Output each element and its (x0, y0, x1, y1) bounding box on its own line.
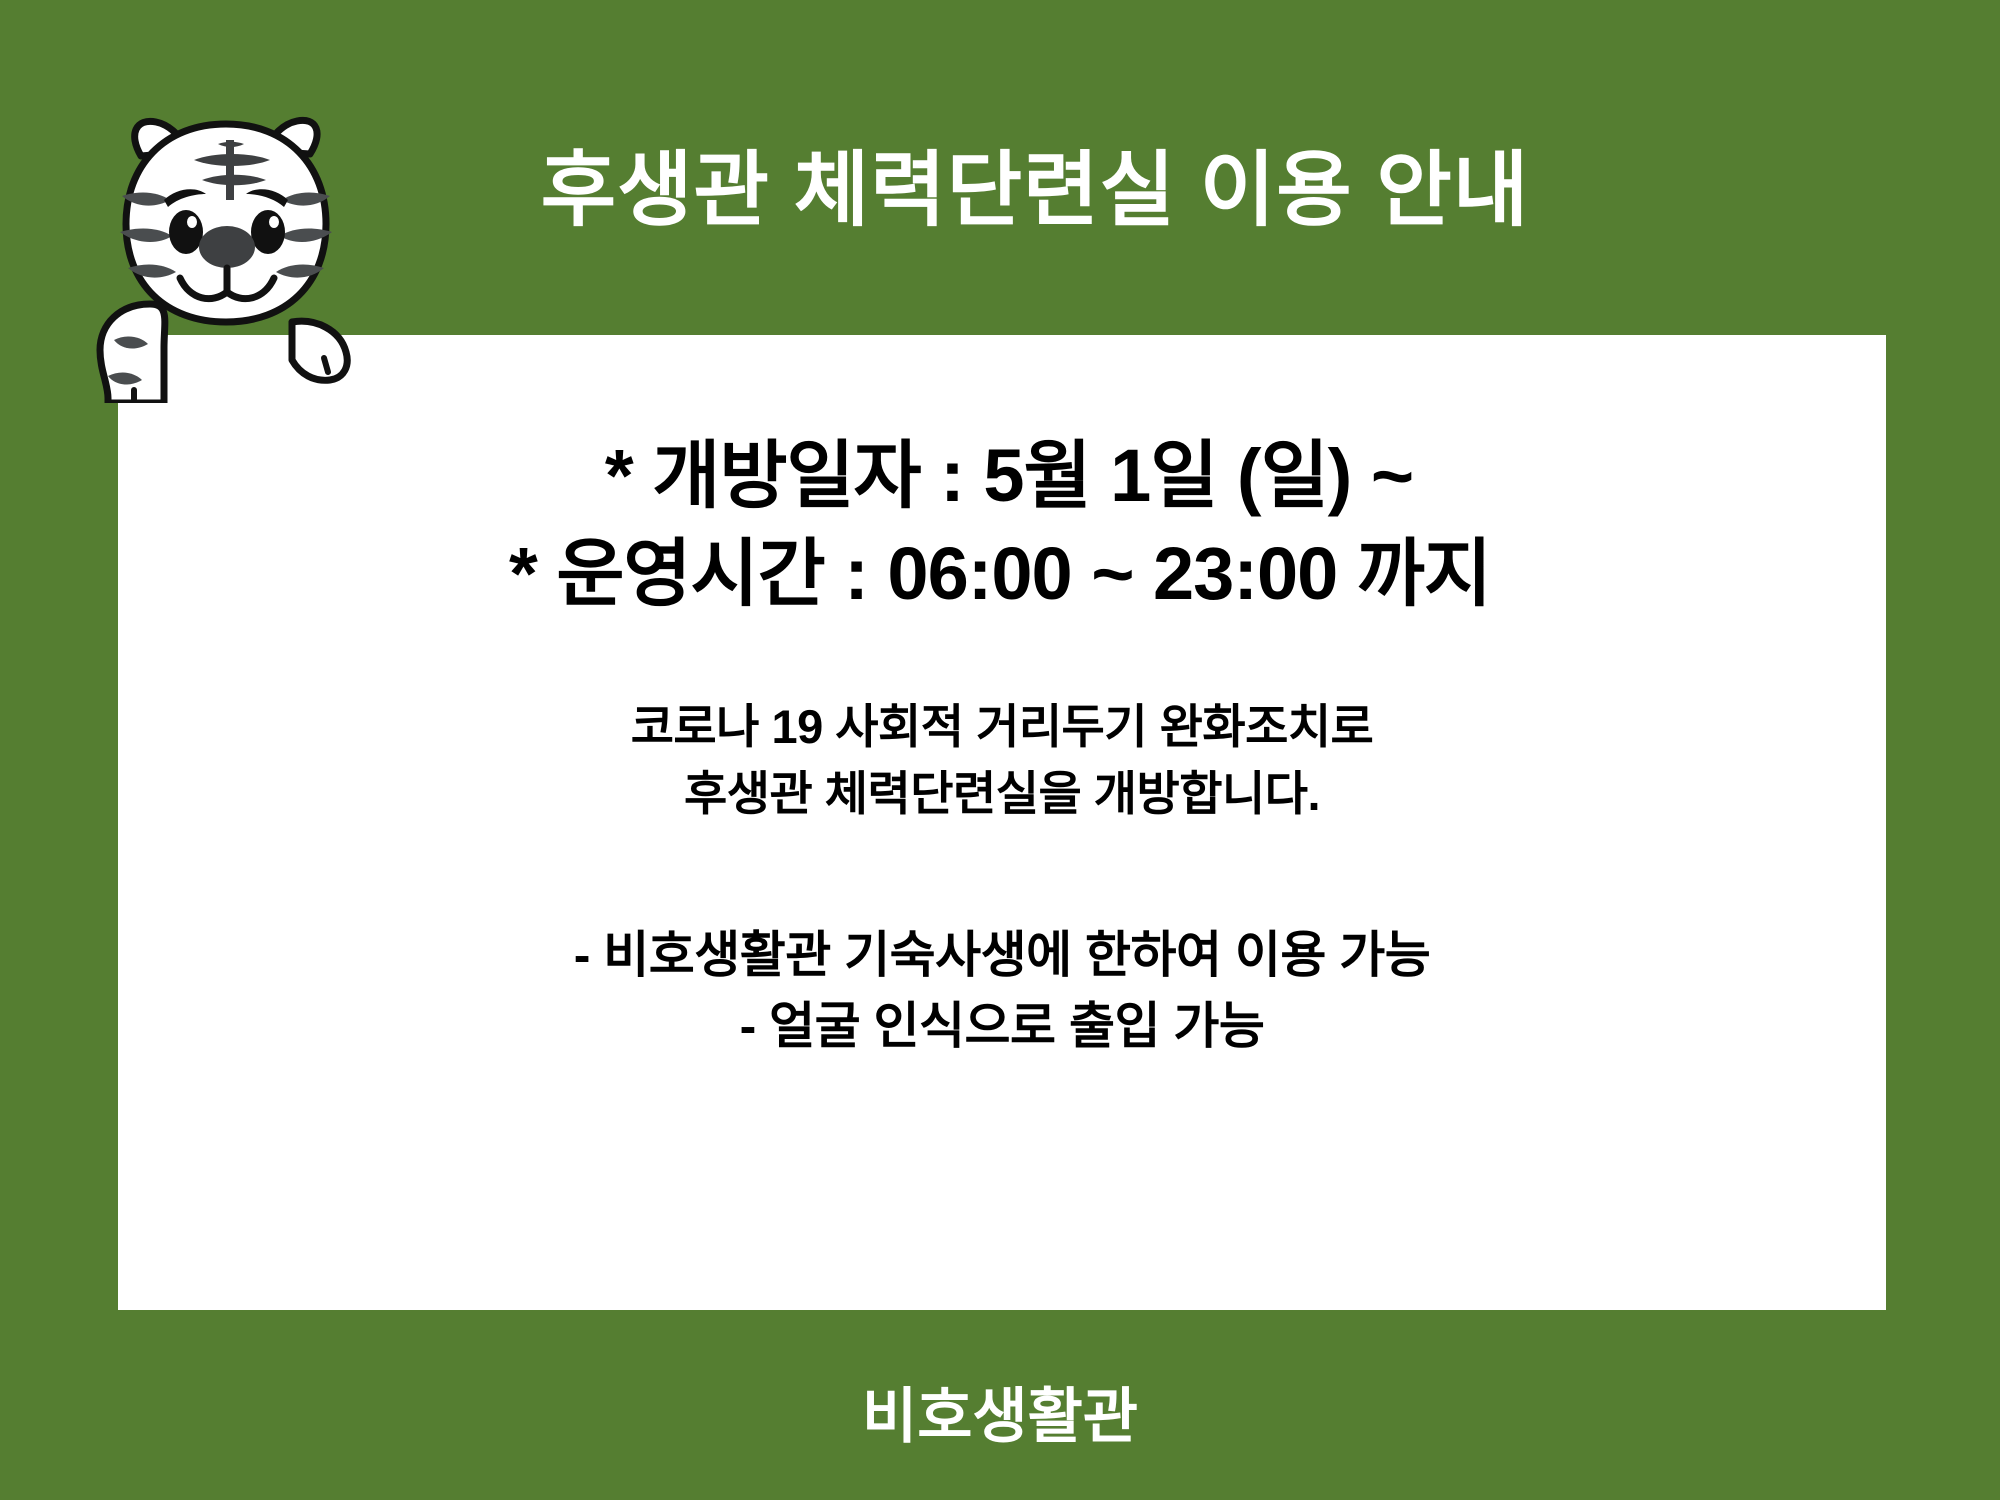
notice-paragraph: 코로나 19 사회적 거리두기 완화조치로 후생관 체력단련실을 개방합니다. (631, 694, 1374, 827)
bullet-item-1: - 비호생활관 기숙사생에 한하여 이용 가능 (574, 920, 1431, 991)
bullet-item-2: - 얼굴 인식으로 출입 가능 (574, 991, 1431, 1062)
headline-open-date: * 개방일자 : 5월 1일 (일) ~ (605, 427, 1413, 525)
paragraph-line-1: 코로나 19 사회적 거리두기 완화조치로 (631, 694, 1374, 761)
notice-card: * 개방일자 : 5월 1일 (일) ~ * 운영시간 : 06:00 ~ 23… (118, 335, 1886, 1310)
footer-organization: 비호생활관 (862, 1383, 1138, 1450)
page-title: 후생관 체력단련실 이용 안내 (541, 148, 1530, 234)
footer: 비호생활관 (0, 1368, 2000, 1455)
notice-bullets: - 비호생활관 기숙사생에 한하여 이용 가능 - 얼굴 인식으로 출입 가능 (574, 920, 1431, 1062)
notice-card-content: * 개방일자 : 5월 1일 (일) ~ * 운영시간 : 06:00 ~ 23… (118, 335, 1886, 1310)
white-tiger-mascot (78, 108, 388, 403)
notice-poster: 후생관 체력단련실 이용 안내 (0, 0, 2000, 1500)
headline-operating-hours: * 운영시간 : 06:00 ~ 23:00 까지 (509, 525, 1491, 623)
paragraph-line-2: 후생관 체력단련실을 개방합니다. (631, 761, 1374, 828)
